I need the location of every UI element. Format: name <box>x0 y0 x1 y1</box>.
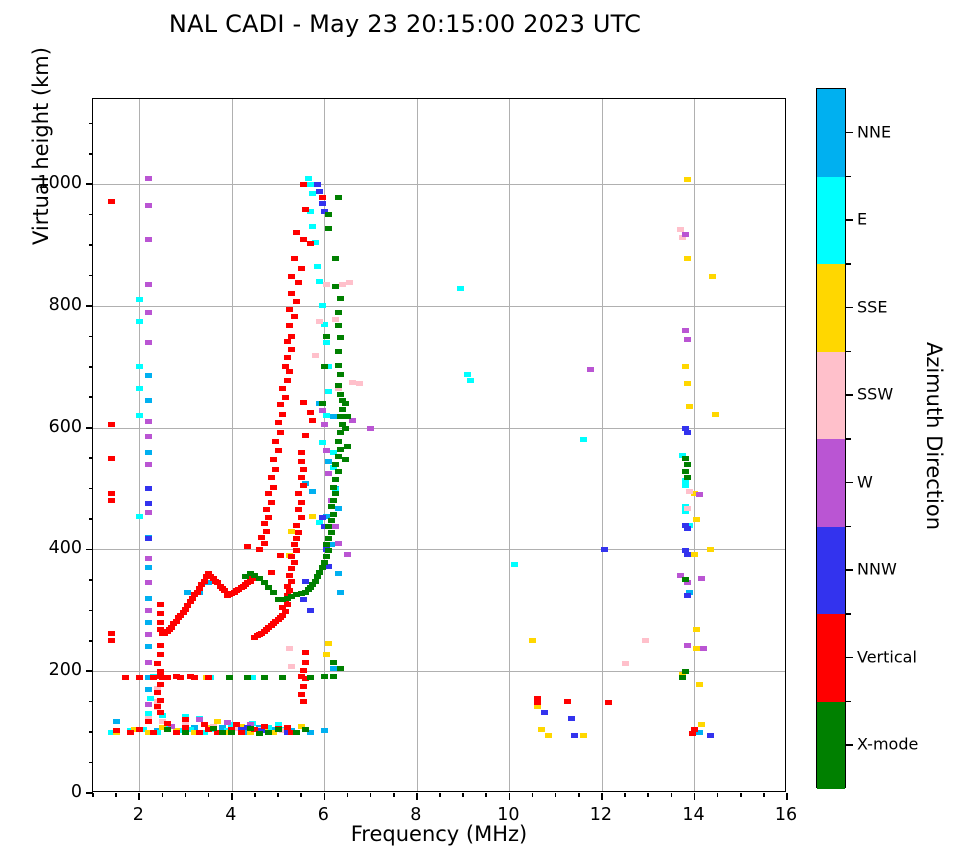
x-tick-minor <box>300 793 302 797</box>
y-tick-label: 800 <box>49 295 82 315</box>
y-tick <box>86 305 93 307</box>
y-tick-minor <box>89 244 93 246</box>
colorbar-segment-vertical <box>817 614 845 702</box>
colorbar-label-nnw: NNW <box>857 560 897 579</box>
chart-title: NAL CADI - May 23 20:15:00 2023 UTC <box>0 10 810 38</box>
y-tick-minor <box>89 640 93 642</box>
y-tick-minor <box>89 579 93 581</box>
y-axis-title: Virtual height (km) <box>29 0 53 493</box>
y-tick-label: 0 <box>71 782 82 802</box>
x-tick-minor <box>208 793 210 797</box>
y-tick <box>86 183 93 185</box>
colorbar-segment-e <box>817 177 845 265</box>
colorbar-segment-sse <box>817 264 845 352</box>
x-tick <box>786 793 788 800</box>
y-tick-minor <box>89 153 93 155</box>
y-tick-minor <box>89 610 93 612</box>
colorbar-segment-nnw <box>817 527 845 615</box>
colorbar-segment-w <box>817 439 845 527</box>
colorbar-boundary-tick <box>846 438 851 440</box>
y-tick-minor <box>89 488 93 490</box>
x-tick-minor <box>763 793 765 797</box>
colorbar-tick <box>846 482 853 484</box>
colorbar-boundary-tick <box>846 701 851 703</box>
plot-area <box>92 98 786 792</box>
y-tick-minor <box>89 396 93 398</box>
colorbar-label-ssw: SSW <box>857 385 893 404</box>
colorbar-tick <box>846 307 853 309</box>
colorbar-label-e: E <box>857 210 867 229</box>
x-tick-minor <box>555 793 557 797</box>
x-tick-minor <box>92 793 94 797</box>
colorbar-segment-nne <box>817 89 845 177</box>
y-tick-label: 600 <box>49 417 82 437</box>
x-tick-minor <box>277 793 279 797</box>
y-tick <box>86 427 93 429</box>
x-tick-minor <box>485 793 487 797</box>
colorbar-label-w: W <box>857 472 873 491</box>
y-tick <box>86 670 93 672</box>
y-tick-minor <box>89 123 93 125</box>
colorbar-boundary-tick <box>846 351 851 353</box>
y-tick <box>86 549 93 551</box>
colorbar-label-x-mode: X-mode <box>857 735 918 754</box>
x-tick-minor <box>254 793 256 797</box>
y-tick-minor <box>89 336 93 338</box>
x-tick-minor <box>162 793 164 797</box>
x-tick-minor <box>647 793 649 797</box>
y-tick-minor <box>89 518 93 520</box>
y-tick-label: 200 <box>49 660 82 680</box>
x-tick-minor <box>185 793 187 797</box>
colorbar-segment-ssw <box>817 352 845 440</box>
colorbar <box>816 88 846 788</box>
colorbar-tick <box>846 744 853 746</box>
x-axis-title: Frequency (MHz) <box>92 822 786 846</box>
x-tick-minor <box>439 793 441 797</box>
colorbar-tick <box>846 569 853 571</box>
x-tick-minor <box>115 793 117 797</box>
x-tick-minor <box>624 793 626 797</box>
colorbar-tick <box>846 219 853 221</box>
chart-canvas: NAL CADI - May 23 20:15:00 2023 UTC 0200… <box>0 0 958 857</box>
x-tick-minor <box>532 793 534 797</box>
colorbar-segment-x-mode <box>817 702 845 790</box>
colorbar-tick <box>846 657 853 659</box>
tick-marks <box>93 99 785 791</box>
y-tick-minor <box>89 275 93 277</box>
y-tick-label: 400 <box>49 538 82 558</box>
y-tick-minor <box>89 762 93 764</box>
colorbar-boundary-tick <box>846 176 851 178</box>
y-tick-minor <box>89 366 93 368</box>
colorbar-tick <box>846 132 853 134</box>
x-tick-minor <box>347 793 349 797</box>
y-tick-minor <box>89 457 93 459</box>
x-tick-minor <box>578 793 580 797</box>
y-tick-minor <box>89 731 93 733</box>
colorbar-boundary-tick <box>846 613 851 615</box>
colorbar-label-nne: NNE <box>857 122 891 141</box>
colorbar-tick <box>846 394 853 396</box>
x-tick-minor <box>740 793 742 797</box>
y-tick-minor <box>89 701 93 703</box>
x-tick-minor <box>717 793 719 797</box>
colorbar-label-vertical: Vertical <box>857 647 917 666</box>
y-tick-minor <box>89 214 93 216</box>
colorbar-boundary-tick <box>846 263 851 265</box>
x-tick-minor <box>370 793 372 797</box>
colorbar-title: Azimuth Direction <box>922 89 946 783</box>
x-tick-minor <box>462 793 464 797</box>
colorbar-label-sse: SSE <box>857 297 887 316</box>
x-tick-minor <box>671 793 673 797</box>
colorbar-boundary-tick <box>846 526 851 528</box>
x-tick-minor <box>393 793 395 797</box>
